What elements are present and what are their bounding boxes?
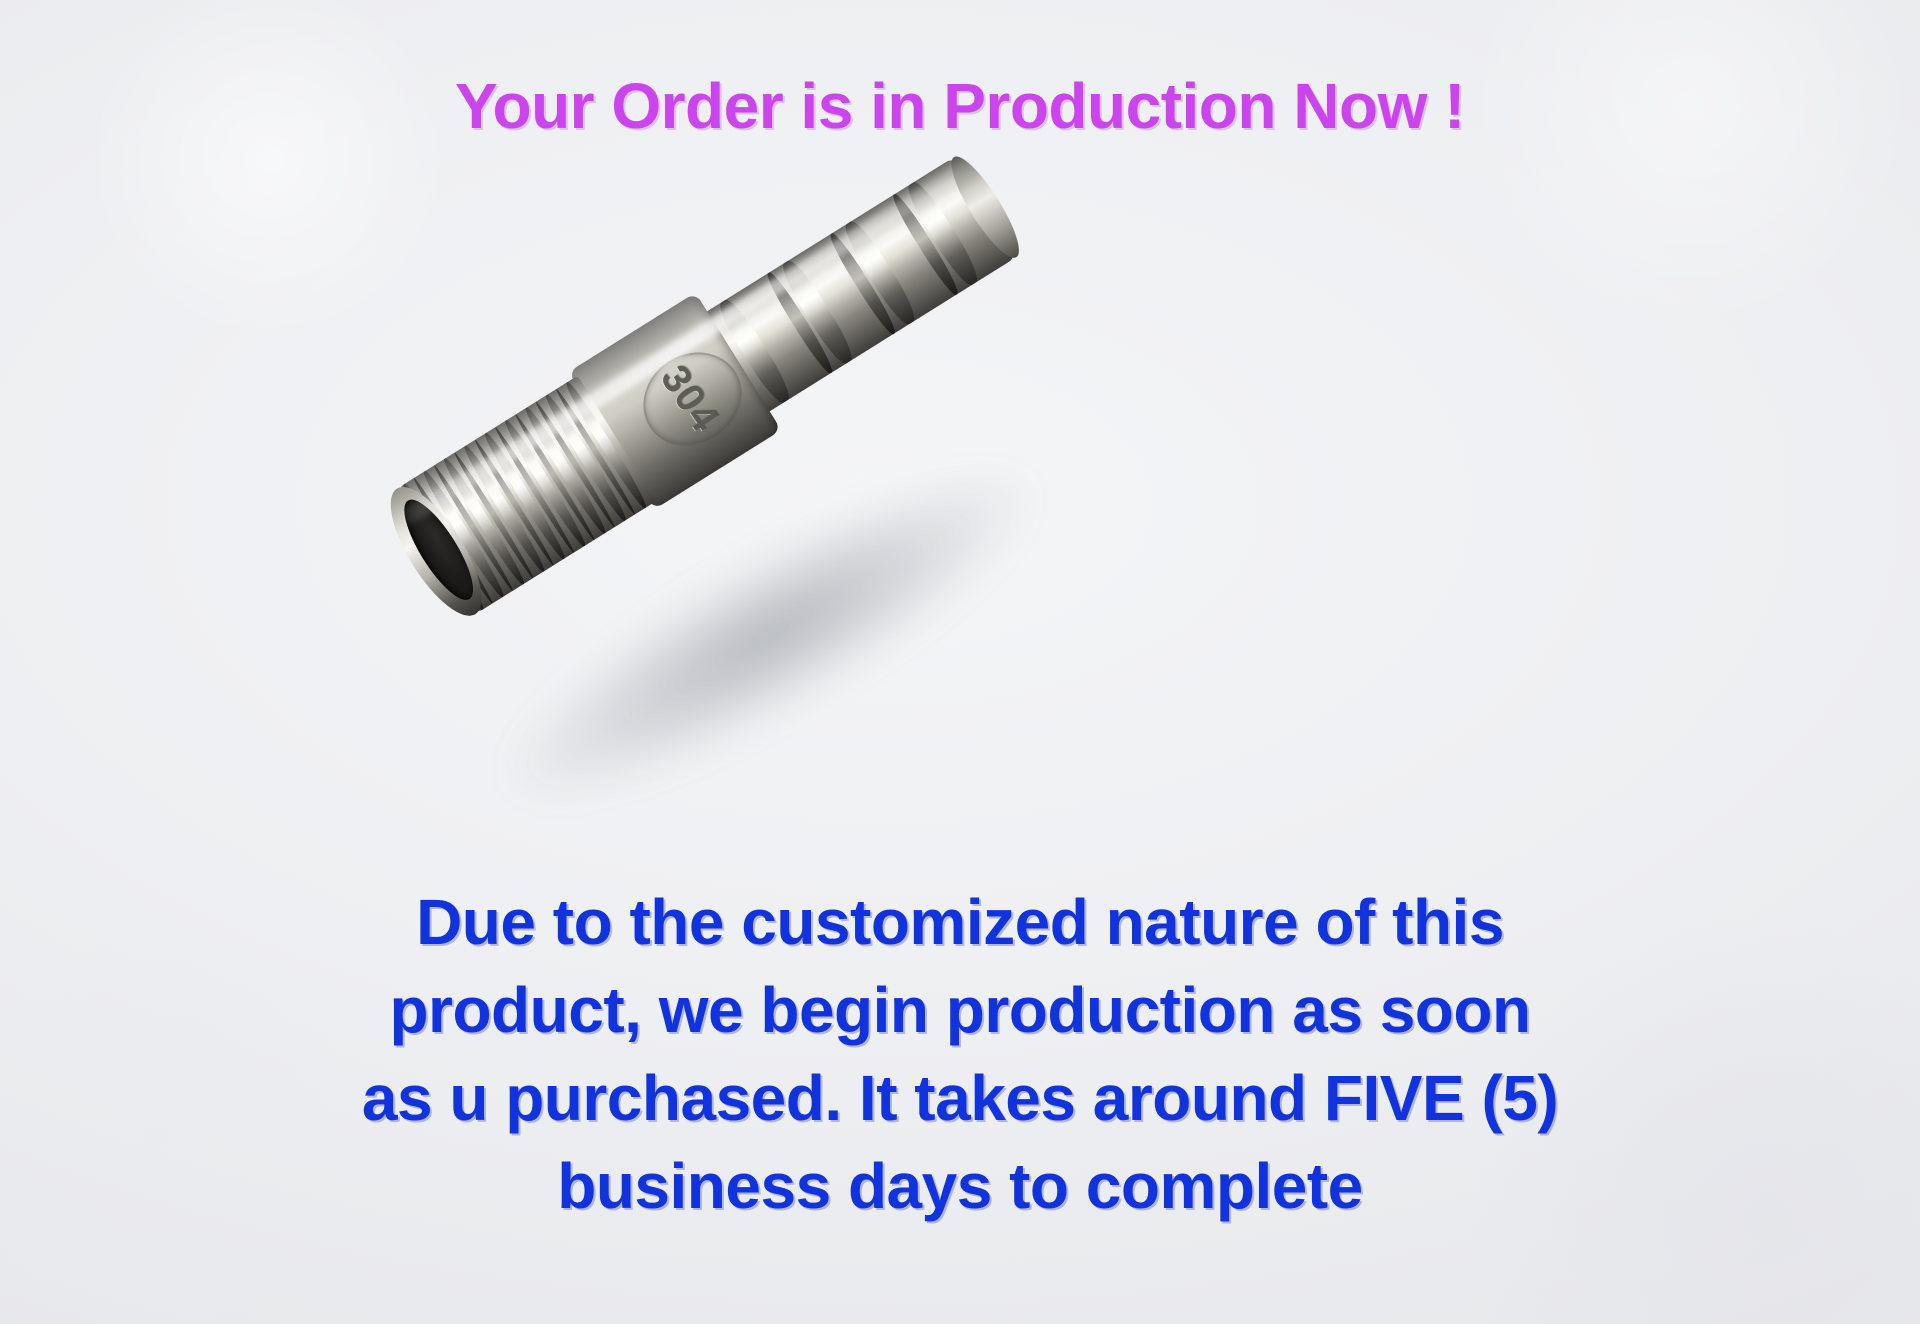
production-notice-text: Due to the customized nature of this pro… bbox=[230, 878, 1690, 1230]
notice-line-1: Due to the customized nature of this bbox=[230, 878, 1690, 966]
promo-banner: Your Order is in Production Now ! 304 bbox=[0, 0, 1920, 1324]
page-title: Your Order is in Production Now ! bbox=[0, 74, 1920, 139]
notice-line-2: product, we begin production as soon bbox=[230, 966, 1690, 1054]
notice-line-4: business days to complete bbox=[230, 1142, 1690, 1230]
notice-line-3: as u purchased. It takes around FIVE (5) bbox=[230, 1054, 1690, 1142]
